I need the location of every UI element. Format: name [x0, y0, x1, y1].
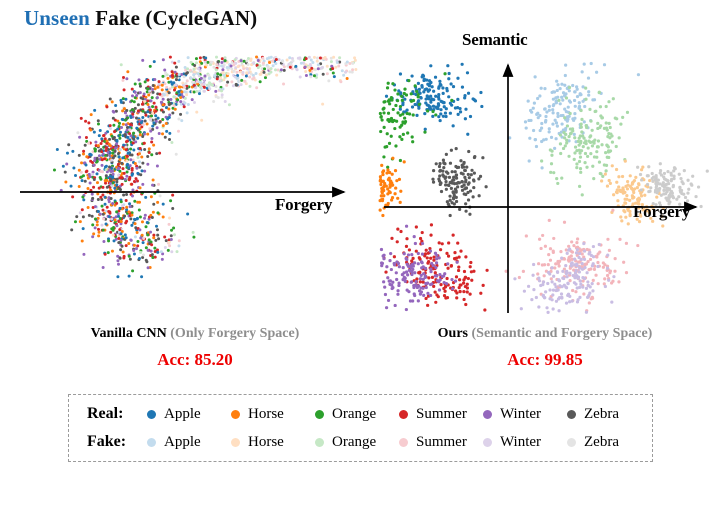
legend-dot-icon: [231, 438, 240, 447]
vanilla-cnn-scatter: [8, 55, 358, 315]
legend-item-real-orange: Orange: [315, 406, 399, 423]
legend-item-label: Summer: [416, 434, 467, 451]
x-axis-label-right: Forgery: [633, 202, 690, 222]
legend-item-label: Winter: [500, 434, 541, 451]
legend-dot-icon: [231, 410, 240, 419]
legend-item-label: Orange: [332, 406, 376, 423]
left-caption-muted: (Only Forgery Space): [167, 326, 300, 341]
legend-row-real: Real: AppleHorseOrangeSummerWinterZebra: [69, 400, 652, 428]
legend-item-real-summer: Summer: [399, 406, 483, 423]
right-accuracy: Acc: 99.85: [380, 350, 710, 370]
vanilla-cnn-plot: Forgery: [8, 55, 358, 315]
legend-row-fake: Fake: AppleHorseOrangeSummerWinterZebra: [69, 428, 652, 456]
legend-dot-icon: [147, 410, 156, 419]
legend-item-real-apple: Apple: [147, 406, 231, 423]
legend-item-label: Apple: [164, 406, 201, 423]
legend-dot-icon: [147, 438, 156, 447]
legend-dot-icon: [567, 410, 576, 419]
y-axis-label-right: Semantic: [462, 30, 527, 50]
legend-item-fake-apple: Apple: [147, 434, 231, 451]
figure-root: Unseen Fake (CycleGAN) Forgery: [0, 0, 721, 515]
legend-dot-icon: [483, 438, 492, 447]
scatter-points-left: [53, 56, 357, 279]
legend-box: Real: AppleHorseOrangeSummerWinterZebra …: [68, 394, 653, 462]
legend-dot-icon: [567, 438, 576, 447]
left-accuracy: Acc: 85.20: [0, 350, 390, 370]
left-caption-strong: Vanilla CNN: [91, 326, 167, 341]
legend-item-real-zebra: Zebra: [567, 406, 651, 423]
legend-item-real-winter: Winter: [483, 406, 567, 423]
legend-dot-icon: [315, 438, 324, 447]
legend-item-fake-summer: Summer: [399, 434, 483, 451]
right-caption-muted: (Semantic and Forgery Space): [468, 326, 652, 341]
title-keyword: Unseen: [24, 6, 90, 30]
legend-dot-icon: [399, 410, 408, 419]
legend-item-label: Summer: [416, 406, 467, 423]
ours-plot: Semantic Forgery: [378, 55, 716, 315]
right-caption-strong: Ours: [438, 326, 468, 341]
legend-dot-icon: [315, 410, 324, 419]
title-rest: Fake (CycleGAN): [90, 6, 257, 30]
scatter-points-right: [379, 62, 709, 314]
legend-item-label: Horse: [248, 406, 284, 423]
legend-item-label: Horse: [248, 434, 284, 451]
legend-item-label: Zebra: [584, 406, 619, 423]
legend-fake-label: Fake:: [69, 433, 147, 451]
legend-item-fake-zebra: Zebra: [567, 434, 651, 451]
legend-item-label: Apple: [164, 434, 201, 451]
page-title: Unseen Fake (CycleGAN): [24, 6, 257, 31]
x-axis-label-left: Forgery: [275, 195, 332, 215]
legend-dot-icon: [399, 438, 408, 447]
legend-item-fake-winter: Winter: [483, 434, 567, 451]
legend-item-fake-horse: Horse: [231, 434, 315, 451]
legend-item-label: Winter: [500, 406, 541, 423]
legend-real-label: Real:: [69, 405, 147, 423]
left-caption: Vanilla CNN (Only Forgery Space): [0, 326, 390, 342]
legend-item-label: Zebra: [584, 434, 619, 451]
legend-item-fake-orange: Orange: [315, 434, 399, 451]
legend-dot-icon: [483, 410, 492, 419]
legend-item-real-horse: Horse: [231, 406, 315, 423]
right-caption: Ours (Semantic and Forgery Space): [380, 326, 710, 342]
legend-item-label: Orange: [332, 434, 376, 451]
ours-scatter: [378, 55, 716, 315]
